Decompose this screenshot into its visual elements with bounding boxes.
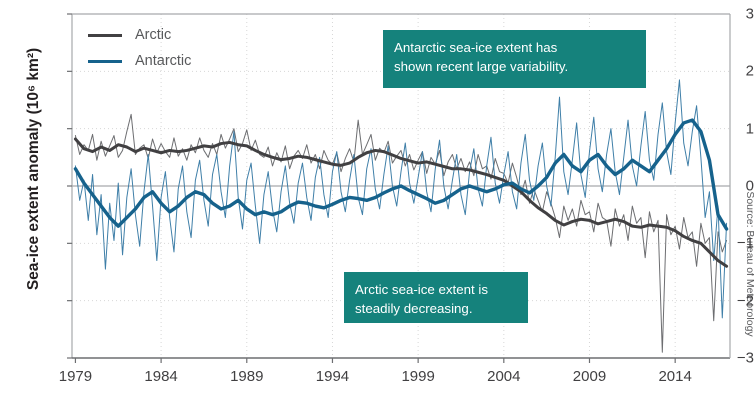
legend-label-arctic: Arctic <box>135 27 171 43</box>
legend-item-antarctic[interactable]: Antarctic <box>88 48 191 74</box>
y-axis-label: Sea-ice extent anomaly (10⁶ km²) <box>25 39 43 299</box>
x-tick-label: 1989 <box>212 368 282 385</box>
legend: Arctic Antarctic <box>88 22 191 74</box>
legend-item-arctic[interactable]: Arctic <box>88 22 191 48</box>
x-tick-label: 1984 <box>126 368 196 385</box>
annotation-callout-2: Arctic sea-ice extent is steadily decrea… <box>344 272 528 323</box>
y-tick-label: 0 <box>692 178 754 195</box>
legend-swatch-antarctic <box>88 60 122 63</box>
legend-swatch-arctic <box>88 34 122 37</box>
y-tick-label: −2 <box>692 292 754 309</box>
y-tick-label: −1 <box>692 235 754 252</box>
x-tick-label: 1979 <box>40 368 110 385</box>
x-tick-label: 2004 <box>469 368 539 385</box>
y-tick-label: −3 <box>692 350 754 367</box>
x-tick-label: 1999 <box>383 368 453 385</box>
y-tick-label: 1 <box>692 120 754 137</box>
y-tick-label: 3 <box>692 6 754 23</box>
annotation-callout-1: Antarctic sea-ice extent has shown recen… <box>383 30 646 88</box>
y-tick-label: 2 <box>692 63 754 80</box>
chart-figure: Sea-ice extent anomaly (10⁶ km²) Source:… <box>0 0 754 405</box>
x-tick-label: 1994 <box>297 368 367 385</box>
legend-label-antarctic: Antarctic <box>135 53 191 69</box>
x-tick-label: 2009 <box>554 368 624 385</box>
x-tick-label: 2014 <box>640 368 710 385</box>
